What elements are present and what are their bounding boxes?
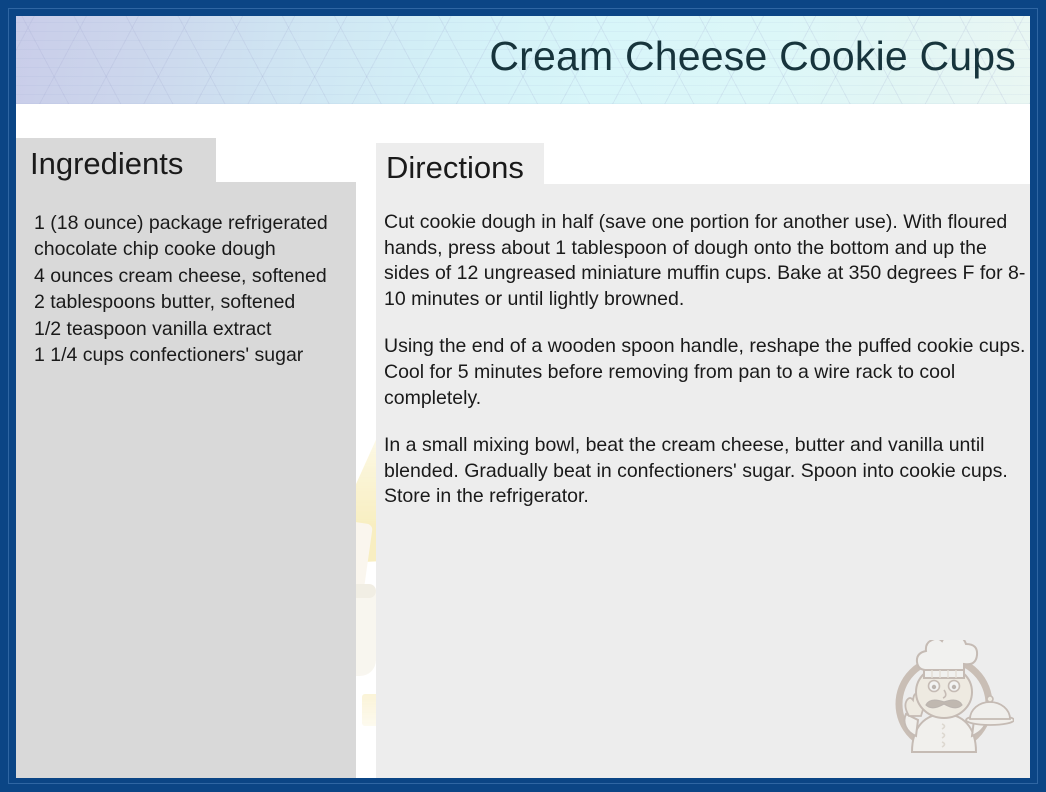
header-banner: Cream Cheese Cookie Cups — [16, 16, 1030, 104]
directions-body: Cut cookie dough in half (save one porti… — [384, 210, 1028, 510]
list-item: 1/2 teaspoon vanilla extract — [34, 316, 366, 342]
directions-heading: Directions — [386, 150, 524, 186]
list-item: 1 (18 ounce) package refrigerated chocol… — [34, 210, 366, 263]
directions-paragraph: Using the end of a wooden spoon handle, … — [384, 334, 1028, 411]
ingredients-list: 1 (18 ounce) package refrigerated chocol… — [34, 210, 366, 368]
ingredients-heading: Ingredients — [30, 146, 183, 182]
list-item: 4 ounces cream cheese, softened — [34, 263, 366, 289]
list-item: 1 1/4 cups confectioners' sugar — [34, 342, 366, 368]
directions-paragraph: Cut cookie dough in half (save one porti… — [384, 210, 1028, 312]
directions-paragraph: In a small mixing bowl, beat the cream c… — [384, 433, 1028, 510]
page-title: Cream Cheese Cookie Cups — [489, 33, 1016, 80]
list-item: 2 tablespoons butter, softened — [34, 289, 366, 315]
recipe-page: Cream Cheese Cookie Cups — [16, 16, 1030, 778]
recipe-card: Cream Cheese Cookie Cups — [0, 0, 1046, 792]
